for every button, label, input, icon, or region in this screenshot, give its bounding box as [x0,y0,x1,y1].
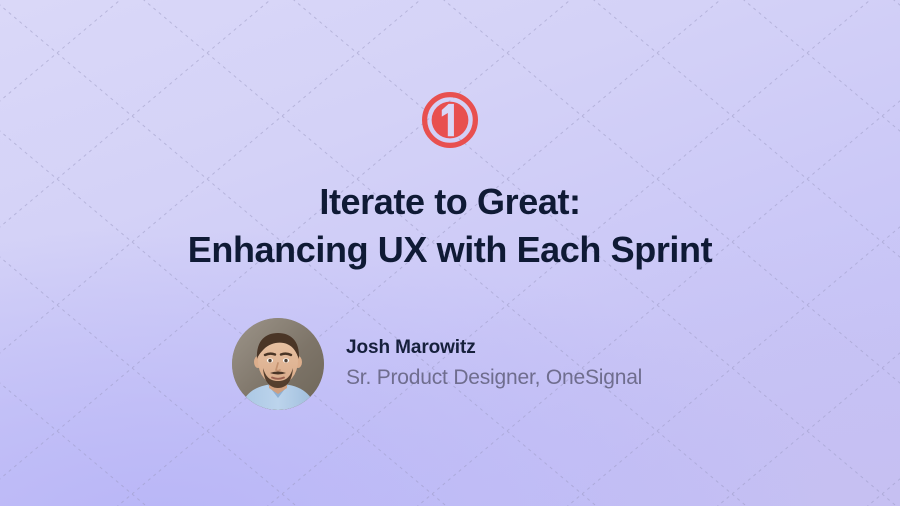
speaker-block: Josh Marowitz Sr. Product Designer, OneS… [232,318,642,410]
slide-title: Iterate to Great: Enhancing UX with Each… [0,178,900,274]
title-line-1: Iterate to Great: [0,178,900,226]
title-line-2: Enhancing UX with Each Sprint [0,226,900,274]
speaker-name: Josh Marowitz [346,335,642,361]
logo-container [0,92,900,148]
title-slide: Iterate to Great: Enhancing UX with Each… [0,0,900,506]
onesignal-logo-icon [422,92,478,148]
speaker-text: Josh Marowitz Sr. Product Designer, OneS… [346,335,642,393]
speaker-role: Sr. Product Designer, OneSignal [346,363,642,393]
avatar [232,318,324,410]
avatar-photo [232,318,324,410]
